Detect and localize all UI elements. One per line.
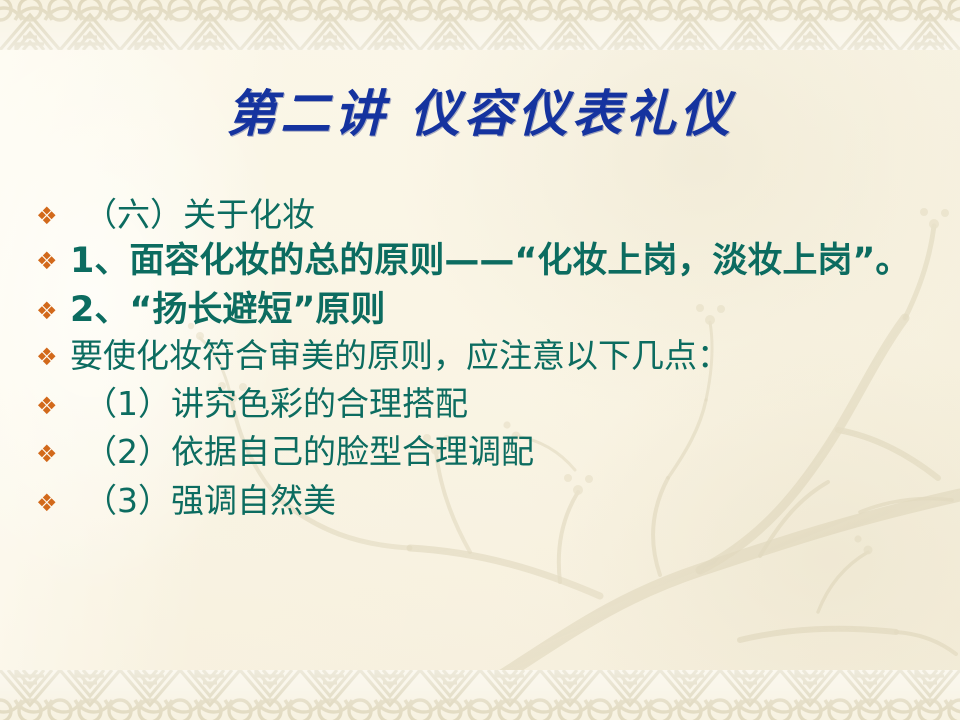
diamond-bullet-icon: ❖ xyxy=(36,337,70,369)
diamond-bullet-icon: ❖ xyxy=(36,240,70,273)
list-item[interactable]: ❖ 要使化妆符合审美的原则，应注意以下几点： xyxy=(36,337,936,375)
presentation-slide: 第二讲 仪容仪表礼仪 ❖ （六）关于化妆 ❖ 1、面容化妆的总的原则——“化妆上… xyxy=(0,0,960,720)
list-item-label: （2）依据自己的脸型合理调配 xyxy=(70,433,936,471)
list-item[interactable]: ❖ 1、面容化妆的总的原则——“化妆上岗，淡妆上岗”。 xyxy=(36,240,936,282)
diamond-bullet-icon: ❖ xyxy=(36,385,70,418)
list-item-label: （3）强调自然美 xyxy=(70,482,936,520)
diamond-bullet-icon: ❖ xyxy=(36,433,70,466)
diamond-bullet-icon: ❖ xyxy=(36,482,70,515)
diamond-bullet-icon: ❖ xyxy=(36,196,70,228)
list-item-label: 1、面容化妆的总的原则——“化妆上岗，淡妆上岗”。 xyxy=(70,240,936,282)
list-item[interactable]: ❖ （3）强调自然美 xyxy=(36,482,936,520)
list-item-label: （1）讲究色彩的合理搭配 xyxy=(70,385,936,423)
list-item[interactable]: ❖ （1）讲究色彩的合理搭配 xyxy=(36,385,936,423)
list-item-label: （六）关于化妆 xyxy=(70,196,936,234)
slide-title: 第二讲 仪容仪表礼仪 xyxy=(0,86,960,141)
list-item[interactable]: ❖ 2、“扬长避短”原则 xyxy=(36,290,936,331)
bullet-list: ❖ （六）关于化妆 ❖ 1、面容化妆的总的原则——“化妆上岗，淡妆上岗”。 ❖ … xyxy=(36,196,936,520)
list-item[interactable]: ❖ （2）依据自己的脸型合理调配 xyxy=(36,433,936,471)
list-item[interactable]: ❖ （六）关于化妆 xyxy=(36,196,936,234)
diamond-bullet-icon: ❖ xyxy=(36,290,70,323)
list-item-label: 要使化妆符合审美的原则，应注意以下几点： xyxy=(70,337,936,375)
list-item-label: 2、“扬长避短”原则 xyxy=(70,290,936,331)
